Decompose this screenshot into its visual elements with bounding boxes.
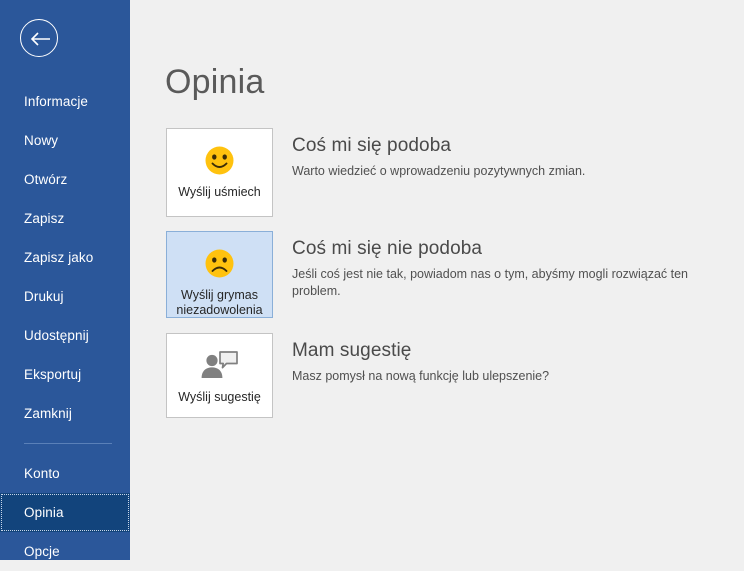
page-title: Opinia	[165, 63, 264, 102]
feedback-heading: Coś mi się podoba	[292, 134, 585, 158]
sidebar-item-zamknij[interactable]: Zamknij	[0, 394, 130, 433]
back-button[interactable]	[20, 19, 58, 57]
send-frown-button[interactable]: Wyślij grymas niezadowolenia	[166, 231, 273, 318]
sidebar-item-drukuj[interactable]: Drukuj	[0, 277, 130, 316]
feedback-description-block: Coś mi się podoba Warto wiedzieć o wprow…	[292, 128, 585, 180]
feedback-options-list: Wyślij uśmiech Coś mi się podoba Warto w…	[166, 128, 736, 418]
tile-label: Wyślij grymas niezadowolenia	[173, 288, 266, 318]
main-content: Opinia Wyślij uśmiech Co	[130, 0, 744, 560]
sidebar-item-udostepnij[interactable]: Udostępnij	[0, 316, 130, 355]
sidebar: Informacje Nowy Otwórz Zapisz Zapisz jak…	[0, 0, 130, 560]
sidebar-item-label: Udostępnij	[24, 328, 89, 343]
sidebar-item-label: Zapisz jako	[24, 250, 93, 265]
feedback-subtext: Warto wiedzieć o wprowadzeniu pozytywnyc…	[292, 163, 585, 180]
feedback-subtext: Jeśli coś jest nie tak, powiadom nas o t…	[292, 266, 736, 300]
frowning-face-icon	[173, 246, 266, 280]
sidebar-nav: Informacje Nowy Otwórz Zapisz Zapisz jak…	[0, 82, 130, 571]
sidebar-item-label: Drukuj	[24, 289, 64, 304]
sidebar-item-label: Opcje	[24, 544, 60, 559]
sidebar-item-label: Eksportuj	[24, 367, 81, 382]
sidebar-item-label: Konto	[24, 466, 60, 481]
feedback-heading: Mam sugestię	[292, 339, 549, 363]
tile-label: Wyślij uśmiech	[173, 185, 266, 200]
sidebar-item-opcje[interactable]: Opcje	[0, 532, 130, 571]
sidebar-item-informacje[interactable]: Informacje	[0, 82, 130, 121]
feedback-subtext: Masz pomysł na nową funkcję lub ulepszen…	[292, 368, 549, 385]
sidebar-divider	[24, 443, 112, 444]
sidebar-item-opinia[interactable]: Opinia	[0, 493, 130, 532]
person-speech-bubble-icon	[173, 348, 266, 382]
feedback-description-block: Coś mi się nie podoba Jeśli coś jest nie…	[292, 231, 736, 300]
sidebar-item-zapisz-jako[interactable]: Zapisz jako	[0, 238, 130, 277]
sidebar-item-otworz[interactable]: Otwórz	[0, 160, 130, 199]
sidebar-item-nowy[interactable]: Nowy	[0, 121, 130, 160]
send-smile-button[interactable]: Wyślij uśmiech	[166, 128, 273, 217]
send-suggestion-button[interactable]: Wyślij sugestię	[166, 333, 273, 418]
feedback-option-suggestion: Wyślij sugestię Mam sugestię Masz pomysł…	[166, 333, 736, 418]
feedback-heading: Coś mi się nie podoba	[292, 237, 736, 261]
smiley-face-icon	[173, 143, 266, 177]
sidebar-item-label: Nowy	[24, 133, 58, 148]
sidebar-item-konto[interactable]: Konto	[0, 454, 130, 493]
backstage-view: Informacje Nowy Otwórz Zapisz Zapisz jak…	[0, 0, 744, 560]
feedback-option-frown: Wyślij grymas niezadowolenia Coś mi się …	[166, 231, 736, 318]
sidebar-item-label: Opinia	[24, 505, 64, 520]
feedback-description-block: Mam sugestię Masz pomysł na nową funkcję…	[292, 333, 549, 385]
tile-label: Wyślij sugestię	[173, 390, 266, 405]
sidebar-item-label: Informacje	[24, 94, 88, 109]
sidebar-item-zapisz[interactable]: Zapisz	[0, 199, 130, 238]
sidebar-item-label: Zapisz	[24, 211, 64, 226]
feedback-option-smile: Wyślij uśmiech Coś mi się podoba Warto w…	[166, 128, 736, 217]
sidebar-item-eksportuj[interactable]: Eksportuj	[0, 355, 130, 394]
sidebar-item-label: Otwórz	[24, 172, 67, 187]
sidebar-item-label: Zamknij	[24, 406, 72, 421]
